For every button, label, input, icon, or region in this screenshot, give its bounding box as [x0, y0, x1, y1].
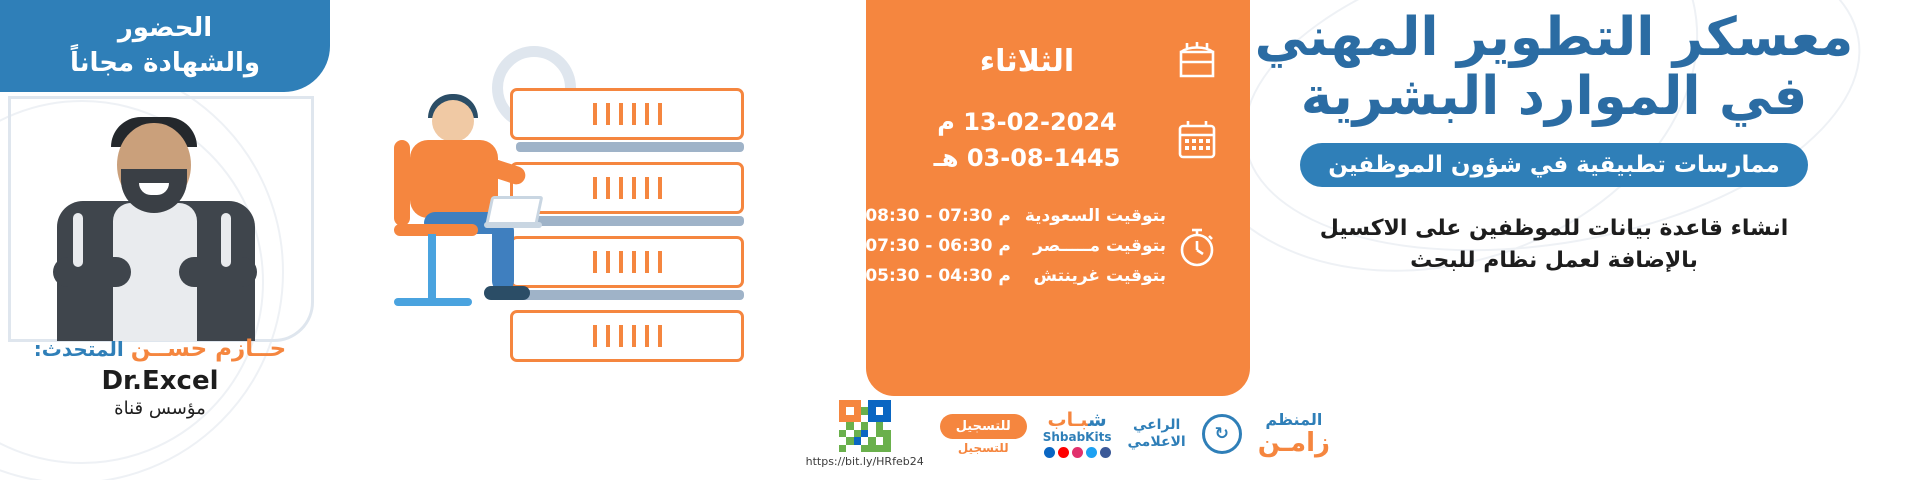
channel-logo: Dr.Excel — [0, 366, 320, 396]
refresh-circle-icon: ↻ — [1202, 414, 1242, 454]
time-range-1: 08:30 - 07:30 م — [865, 202, 1011, 232]
shbabkits-latin: ShbabKits — [1043, 430, 1112, 444]
page-title: معسكر التطوير المهني في الموارد البشرية — [1204, 8, 1904, 127]
title-line-2: في الموارد البشرية — [1204, 67, 1904, 126]
schedule-day-text: الثلاثاء — [888, 44, 1166, 79]
register-url[interactable]: https://bit.ly/HRfeb24 — [806, 455, 924, 468]
time-zone-3: بتوقيت غرينتش — [1034, 262, 1166, 292]
offer-line-2: والشهادة مجاناً — [70, 48, 260, 78]
organizer-name: زامـن — [1258, 429, 1330, 458]
date-hijri: 03-08-1445 هـ — [888, 140, 1166, 176]
shbabkits-logo: شبـاب ShbabKits — [1043, 411, 1112, 458]
register-subtext: للتسجيل — [958, 441, 1009, 455]
date-gregorian: 13-02-2024 م — [888, 104, 1166, 140]
schedule-time-text: بتوقيت السعودية 08:30 - 07:30 م بتوقيت م… — [865, 202, 1166, 291]
description-line-1: انشاء قاعدة بيانات للموظفين على الاكسيل — [1204, 213, 1904, 245]
title-line-1: معسكر التطوير المهني — [1255, 7, 1854, 68]
calendar-icon — [1166, 118, 1228, 162]
instagram-icon[interactable] — [1072, 447, 1083, 458]
time-range-2: 07:30 - 06:30 م — [865, 232, 1011, 262]
schedule-date-row: 13-02-2024 م 03-08-1445 هـ — [866, 104, 1250, 176]
speaker-photo-frame — [8, 96, 314, 342]
time-zone-1: بتوقيت السعودية — [1025, 202, 1166, 232]
qr-block[interactable]: https://bit.ly/HRfeb24 — [806, 400, 924, 468]
schedule-date-text: 13-02-2024 م 03-08-1445 هـ — [888, 104, 1166, 176]
youtube-icon[interactable] — [1058, 447, 1069, 458]
channel-note: مؤسس قناة — [0, 398, 320, 419]
organizer-block: المنظم زامـن — [1258, 410, 1330, 458]
illustration-server-person — [380, 30, 860, 360]
time-row-3: بتوقيت غرينتش 05:30 - 04:30 م — [865, 262, 1166, 292]
server-unit — [510, 88, 744, 140]
qr-code[interactable] — [839, 400, 891, 452]
person-with-laptop-illustration — [388, 100, 538, 330]
linkedin-icon[interactable] — [1044, 447, 1055, 458]
social-icons-row — [1043, 447, 1112, 458]
organizer-label: المنظم — [1258, 410, 1330, 429]
media-label-line-1: الراعي — [1133, 417, 1180, 433]
server-stack — [510, 88, 744, 372]
server-unit — [510, 162, 744, 214]
laptop-icon — [484, 196, 540, 230]
shbab-part-1: ش — [1088, 409, 1107, 431]
speaker-name-line: حــازم حســن المتحدث: — [0, 336, 320, 362]
server-unit — [510, 310, 744, 362]
register-button[interactable]: للتسجيل — [940, 414, 1027, 439]
server-unit — [510, 236, 744, 288]
server-shelf — [516, 290, 744, 300]
shbabkits-arabic: شبـاب — [1043, 411, 1112, 430]
event-banner: معسكر التطوير المهني في الموارد البشرية … — [0, 0, 1922, 480]
description-line-2: بالإضافة لعمل نظام للبحث — [1204, 245, 1904, 277]
stopwatch-icon — [1166, 224, 1228, 270]
time-zone-2: بتوقيت مـــــصر — [1033, 232, 1166, 262]
media-sponsor-block: الراعي الاعلامي — [1127, 417, 1185, 452]
time-row-1: بتوقيت السعودية 08:30 - 07:30 م — [865, 202, 1166, 232]
register-block[interactable]: للتسجيل للتسجيل — [940, 414, 1027, 455]
footer-strip: المنظم زامـن ↻ الراعي الاعلامي شبـاب Shb… — [790, 392, 1338, 476]
free-attendance-badge: الحضور والشهادة مجاناً — [0, 0, 330, 92]
server-shelf — [516, 216, 744, 226]
media-sponsor-label: الراعي الاعلامي — [1127, 417, 1185, 452]
schedule-day-value: الثلاثاء — [888, 44, 1166, 79]
schedule-card: الثلاثاء 13-02-2024 م — [866, 0, 1250, 396]
twitter-icon[interactable] — [1086, 447, 1097, 458]
media-label-line-2: الاعلامي — [1127, 434, 1185, 450]
speaker-info: حــازم حســن المتحدث: Dr.Excel مؤسس قناة — [0, 336, 320, 419]
server-shelf — [516, 142, 744, 152]
time-range-3: 05:30 - 04:30 م — [865, 262, 1011, 292]
speaker-name: حــازم حســن — [131, 336, 286, 362]
channel-logo-text: Dr.Excel — [101, 366, 218, 396]
offer-line-1: الحضور — [118, 13, 212, 43]
title-area: معسكر التطوير المهني في الموارد البشرية … — [1204, 8, 1904, 277]
shbab-part-2: بـاب — [1048, 409, 1088, 431]
time-row-2: بتوقيت مـــــصر 07:30 - 06:30 م — [865, 232, 1166, 262]
speaker-role-label: المتحدث: — [34, 337, 124, 361]
speaker-avatar — [51, 117, 261, 339]
subtitle-badge: ممارسات تطبيقية في شؤون الموظفين — [1300, 143, 1808, 187]
schedule-time-row: بتوقيت السعودية 08:30 - 07:30 م بتوقيت م… — [866, 202, 1250, 291]
description: انشاء قاعدة بيانات للموظفين على الاكسيل … — [1204, 213, 1904, 277]
schedule-day-row: الثلاثاء — [866, 40, 1250, 82]
facebook-icon[interactable] — [1100, 447, 1111, 458]
calendar-flip-icon — [1166, 40, 1228, 82]
